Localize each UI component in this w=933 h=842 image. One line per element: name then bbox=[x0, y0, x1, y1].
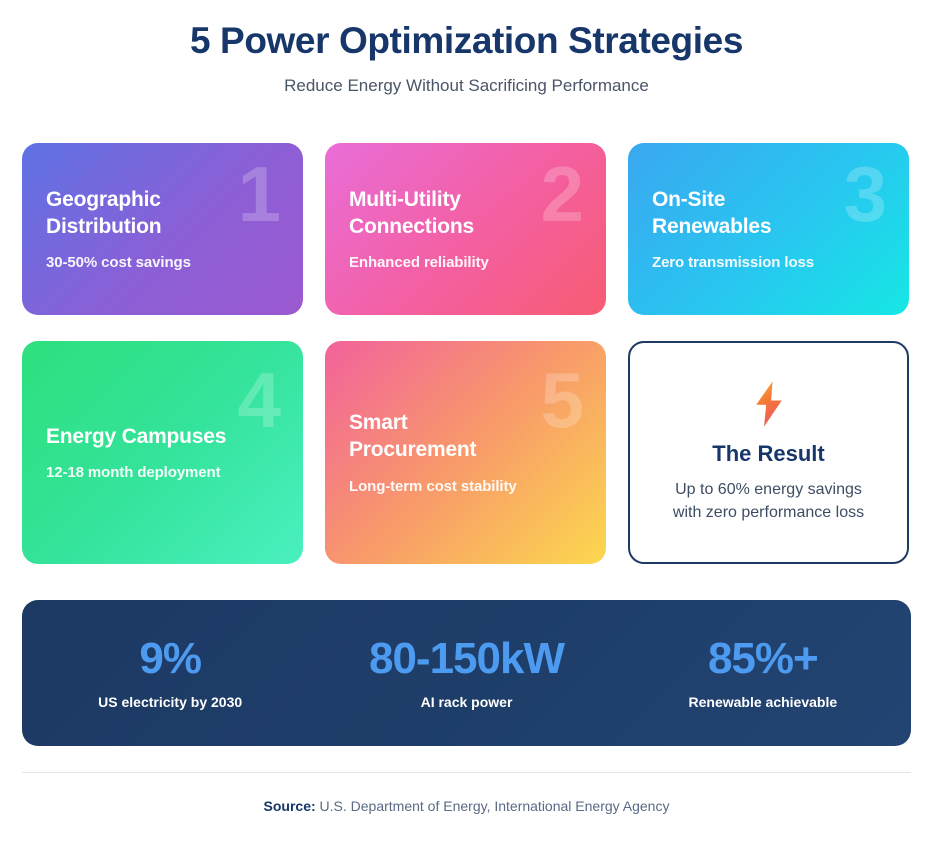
stats-bar: 9% US electricity by 2030 80-150kW AI ra… bbox=[22, 600, 911, 746]
strategy-card-multi-utility-connections[interactable]: 2 Multi-Utility Connections Enhanced rel… bbox=[325, 143, 606, 315]
infographic-page: 5 Power Optimization Strategies Reduce E… bbox=[0, 0, 933, 842]
source-text: U.S. Department of Energy, International… bbox=[316, 798, 670, 814]
page-subtitle: Reduce Energy Without Sacrificing Perfor… bbox=[0, 76, 933, 96]
footer-divider bbox=[22, 772, 911, 773]
card-subtitle: Long-term cost stability bbox=[349, 478, 582, 495]
stat-label: Renewable achievable bbox=[615, 694, 911, 710]
strategy-card-grid: 1 Geographic Distribution 30-50% cost sa… bbox=[22, 143, 911, 564]
strategy-card-energy-campuses[interactable]: 4 Energy Campuses 12-18 month deployment bbox=[22, 341, 303, 564]
stat-value: 80-150kW bbox=[318, 636, 614, 682]
stat-label: US electricity by 2030 bbox=[22, 694, 318, 710]
result-card-text: Up to 60% energy savings with zero perfo… bbox=[673, 479, 864, 524]
strategy-card-on-site-renewables[interactable]: 3 On-Site Renewables Zero transmission l… bbox=[628, 143, 909, 315]
card-subtitle: Zero transmission loss bbox=[652, 254, 885, 271]
card-subtitle: 30-50% cost savings bbox=[46, 254, 279, 271]
strategy-card-geographic-distribution[interactable]: 1 Geographic Distribution 30-50% cost sa… bbox=[22, 143, 303, 315]
card-title: Multi-Utility Connections bbox=[349, 187, 582, 241]
strategy-card-smart-procurement[interactable]: 5 Smart Procurement Long-term cost stabi… bbox=[325, 341, 606, 564]
page-title: 5 Power Optimization Strategies bbox=[0, 18, 933, 64]
stat-renewable-achievable: 85%+ Renewable achievable bbox=[615, 636, 911, 710]
header: 5 Power Optimization Strategies Reduce E… bbox=[0, 0, 933, 96]
card-title: Geographic Distribution bbox=[46, 187, 279, 241]
card-title: On-Site Renewables bbox=[652, 187, 885, 241]
stat-label: AI rack power bbox=[318, 694, 614, 710]
stat-us-electricity: 9% US electricity by 2030 bbox=[22, 636, 318, 710]
stat-value: 9% bbox=[22, 636, 318, 682]
card-subtitle: Enhanced reliability bbox=[349, 254, 582, 271]
card-title: Energy Campuses bbox=[46, 424, 279, 451]
stat-value: 85%+ bbox=[615, 636, 911, 682]
footer: Source: U.S. Department of Energy, Inter… bbox=[0, 798, 933, 814]
card-subtitle: 12-18 month deployment bbox=[46, 464, 279, 481]
stat-ai-rack-power: 80-150kW AI rack power bbox=[318, 636, 614, 710]
card-title: Smart Procurement bbox=[349, 410, 582, 464]
result-card[interactable]: The Result Up to 60% energy savings with… bbox=[628, 341, 909, 564]
result-card-title: The Result bbox=[712, 441, 824, 467]
source-label: Source: bbox=[264, 798, 316, 814]
lightning-bolt-icon bbox=[752, 381, 786, 427]
